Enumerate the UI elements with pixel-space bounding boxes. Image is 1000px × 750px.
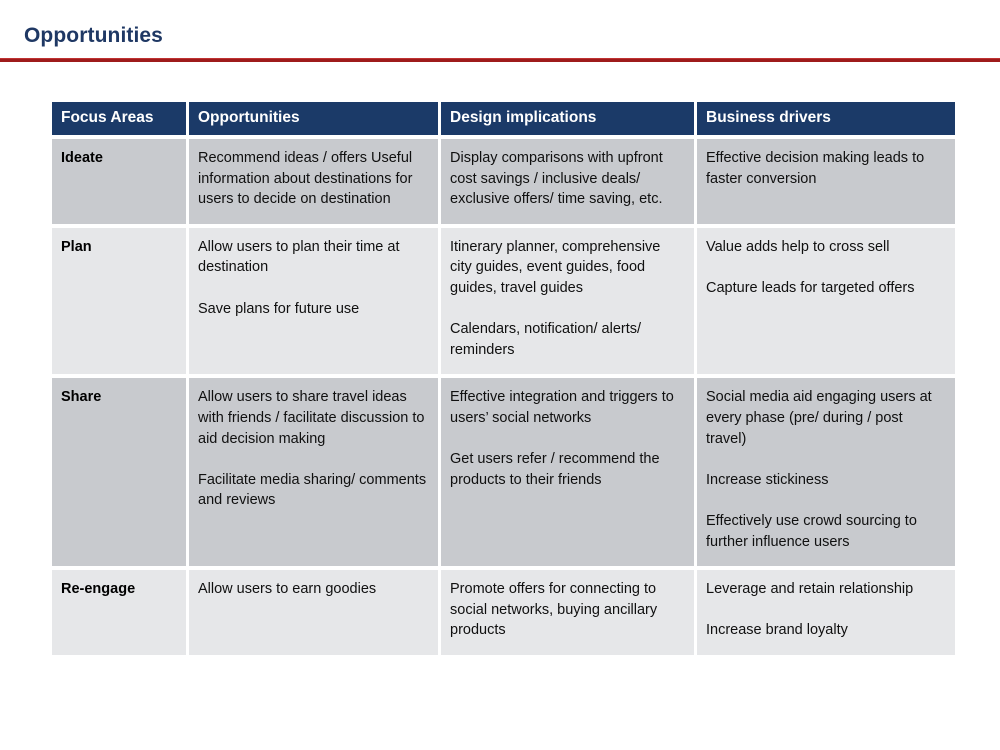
title-divider-rule [0,58,1000,62]
cell-focus-area: Re-engage [52,570,189,655]
paragraph: Allow users to share travel ideas with f… [198,387,428,449]
paragraph: Facilitate media sharing/ comments and r… [198,470,428,511]
paragraph: Value adds help to cross sell [706,237,945,258]
cell-business-drivers: Leverage and retain relationship Increas… [697,570,955,655]
paragraph: Display comparisons with upfront cost sa… [450,148,684,210]
paragraph: Effective decision making leads to faste… [706,148,945,189]
paragraph: Leverage and retain relationship [706,579,945,600]
table-row: Ideate Recommend ideas / offers Useful i… [52,139,955,228]
paragraph: Capture leads for targeted offers [706,278,945,299]
opportunities-table: Focus Areas Opportunities Design implica… [52,102,955,655]
table-row: Re-engage Allow users to earn goodies Pr… [52,570,955,655]
table-body: Ideate Recommend ideas / offers Useful i… [52,139,955,655]
paragraph: Promote offers for connecting to social … [450,579,684,641]
paragraph: Increase brand loyalty [706,620,945,641]
table-row: Share Allow users to share travel ideas … [52,378,955,570]
paragraph: Effective integration and triggers to us… [450,387,684,428]
paragraph: Effectively use crowd sourcing to furthe… [706,511,945,552]
cell-focus-area: Plan [52,228,189,379]
column-header-design-implications: Design implications [441,102,697,139]
paragraph: Allow users to earn goodies [198,579,428,600]
cell-design-implications: Effective integration and triggers to us… [441,378,697,570]
cell-opportunities: Allow users to plan their time at destin… [189,228,441,379]
paragraph: Increase stickiness [706,470,945,491]
column-header-focus-areas: Focus Areas [52,102,189,139]
paragraph: Get users refer / recommend the products… [450,449,684,490]
table-header-row: Focus Areas Opportunities Design implica… [52,102,955,139]
table-header: Focus Areas Opportunities Design implica… [52,102,955,139]
cell-opportunities: Allow users to earn goodies [189,570,441,655]
paragraph: Social media aid engaging users at every… [706,387,945,449]
paragraph: Itinerary planner, comprehensive city gu… [450,237,684,299]
table-row: Plan Allow users to plan their time at d… [52,228,955,379]
paragraph: Recommend ideas / offers Useful informat… [198,148,428,210]
cell-opportunities: Recommend ideas / offers Useful informat… [189,139,441,228]
cell-business-drivers: Effective decision making leads to faste… [697,139,955,228]
paragraph: Save plans for future use [198,299,428,320]
cell-focus-area: Ideate [52,139,189,228]
paragraph: Allow users to plan their time at destin… [198,237,428,278]
cell-design-implications: Itinerary planner, comprehensive city gu… [441,228,697,379]
cell-opportunities: Allow users to share travel ideas with f… [189,378,441,570]
cell-business-drivers: Social media aid engaging users at every… [697,378,955,570]
cell-design-implications: Display comparisons with upfront cost sa… [441,139,697,228]
column-header-business-drivers: Business drivers [697,102,955,139]
paragraph: Calendars, notification/ alerts/ reminde… [450,319,684,360]
column-header-opportunities: Opportunities [189,102,441,139]
slide-header: Opportunities [0,0,1000,62]
cell-focus-area: Share [52,378,189,570]
cell-design-implications: Promote offers for connecting to social … [441,570,697,655]
page-title: Opportunities [24,24,163,48]
cell-business-drivers: Value adds help to cross sell Capture le… [697,228,955,379]
